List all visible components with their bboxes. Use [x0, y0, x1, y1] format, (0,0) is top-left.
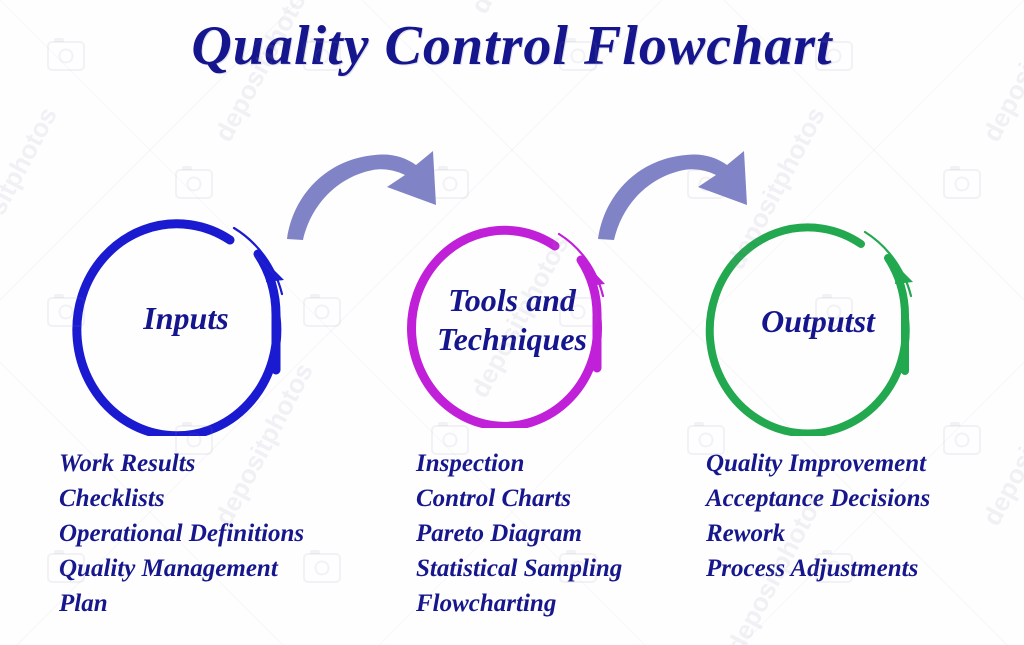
list-item: Quality Management: [59, 551, 304, 586]
list-item: Rework: [706, 516, 930, 551]
connector-inputs-to-tools: [283, 143, 443, 243]
list-item: Checklists: [59, 481, 304, 516]
circular-arrow-icon: [70, 202, 302, 436]
node-tools-and-techniques[interactable]: Tools and Techniques: [405, 212, 619, 428]
connector-tools-to-outputs: [594, 143, 754, 243]
watermark-text: depositphotos: [976, 358, 1024, 531]
camera-icon: [303, 297, 341, 327]
curved-arrow-right-icon: [283, 143, 443, 243]
list-item: Inspection: [416, 446, 622, 481]
list-outputs-items: Quality Improvement Acceptance Decisions…: [706, 446, 930, 586]
list-item: Acceptance Decisions: [706, 481, 930, 516]
node-inputs[interactable]: Inputs: [70, 202, 302, 436]
list-item: Quality Improvement: [706, 446, 930, 481]
list-item: Operational Definitions: [59, 516, 304, 551]
camera-icon: [943, 425, 981, 455]
list-inputs-items: Work Results Checklists Operational Defi…: [59, 446, 304, 621]
watermark-text: depositphotos: [0, 102, 64, 275]
list-tools-items: Inspection Control Charts Pareto Diagram…: [416, 446, 622, 621]
page-title: Quality Control Flowchart: [0, 14, 1024, 78]
camera-icon: [303, 553, 341, 583]
curved-arrow-right-icon: [594, 143, 754, 243]
list-item: Control Charts: [416, 481, 622, 516]
list-item: Flowcharting: [416, 586, 622, 621]
circular-arrow-icon: [405, 212, 619, 428]
camera-icon: [943, 169, 981, 199]
list-item: Pareto Diagram: [416, 516, 622, 551]
list-item: Statistical Sampling: [416, 551, 622, 586]
flowchart-canvas: Quality Control Flowchart Inputs: [0, 0, 1024, 645]
list-item: Process Adjustments: [706, 551, 930, 586]
camera-icon: [175, 169, 213, 199]
list-item: Plan: [59, 586, 304, 621]
list-item: Work Results: [59, 446, 304, 481]
